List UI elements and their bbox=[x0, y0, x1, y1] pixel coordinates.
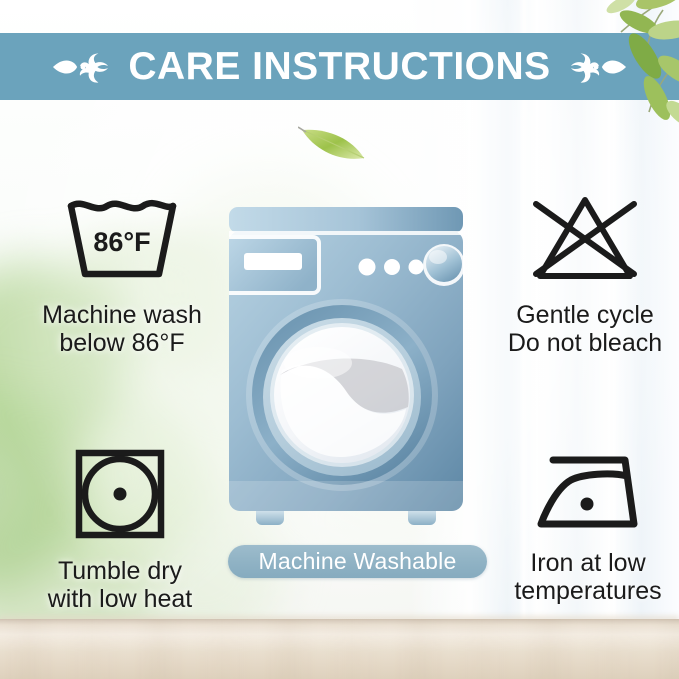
fleur-de-lis-ornament-left-icon bbox=[52, 47, 110, 87]
wooden-table-grain bbox=[0, 619, 679, 679]
care-icon-iron: Iron at low temperatures bbox=[500, 450, 676, 606]
washing-machine-illustration bbox=[222, 205, 470, 535]
care-icon-tumble-dry: Tumble dry with low heat bbox=[26, 446, 214, 614]
care-caption-tumble-dry: Tumble dry with low heat bbox=[48, 557, 193, 614]
care-caption-iron: Iron at low temperatures bbox=[514, 549, 661, 606]
iron-icon bbox=[531, 450, 645, 539]
care-caption-do-not-bleach: Gentle cycle Do not bleach bbox=[508, 301, 662, 358]
care-instructions-infographic: CARE INSTRUCTIONS bbox=[0, 0, 679, 679]
wash-temperature-value: 86°F bbox=[93, 227, 150, 257]
fleur-de-lis-ornament-right-icon bbox=[569, 47, 627, 87]
header-banner: CARE INSTRUCTIONS bbox=[0, 33, 679, 100]
machine-washable-badge: Machine Washable bbox=[228, 545, 487, 578]
care-caption-machine-wash: Machine wash below 86°F bbox=[42, 301, 202, 358]
machine-washable-label: Machine Washable bbox=[259, 550, 457, 573]
tumble-dry-icon bbox=[72, 446, 168, 547]
floating-leaf-icon bbox=[298, 122, 370, 164]
triangle-crossed-icon bbox=[526, 192, 644, 291]
page-title: CARE INSTRUCTIONS bbox=[124, 47, 554, 86]
wash-tub-icon: 86°F bbox=[63, 196, 181, 291]
care-icon-machine-wash: 86°F Machine wash below 86°F bbox=[22, 196, 222, 358]
care-icon-do-not-bleach: Gentle cycle Do not bleach bbox=[496, 192, 674, 358]
